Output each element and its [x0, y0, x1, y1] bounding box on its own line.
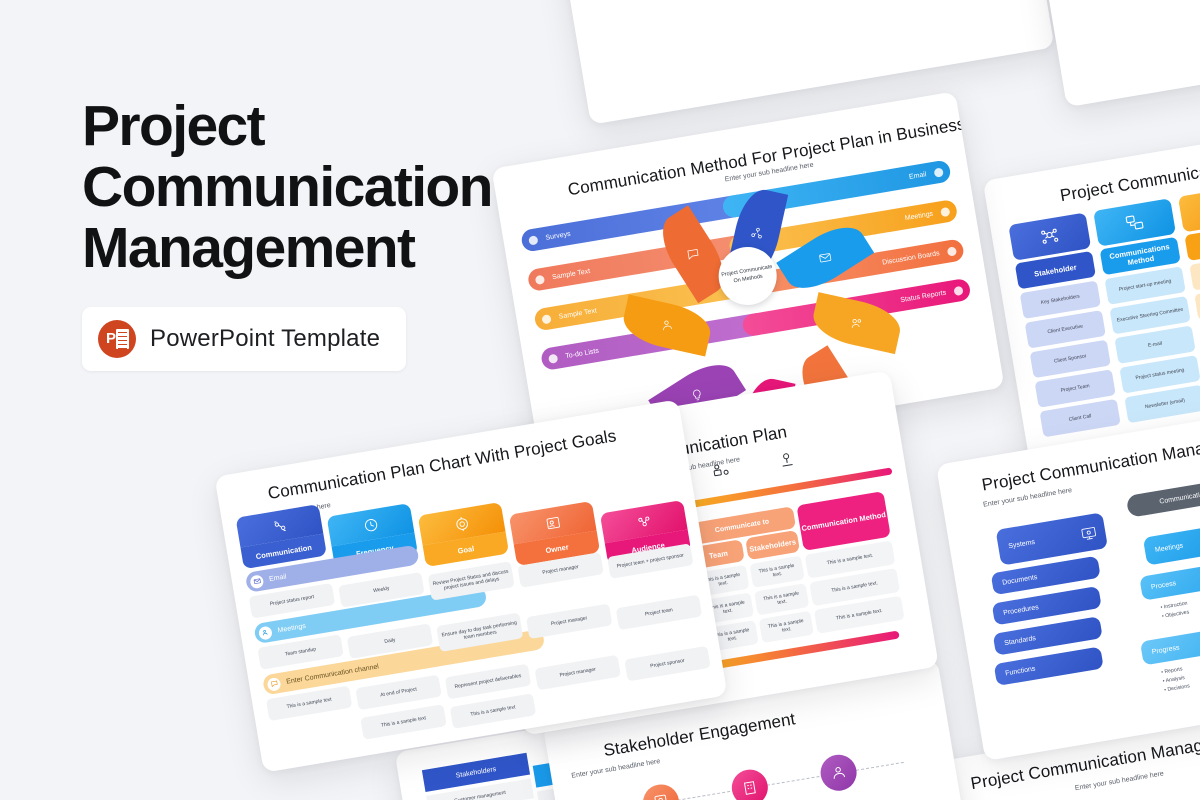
coin-icon: [755, 442, 818, 478]
table-cell: This is a sample text: [360, 704, 446, 740]
goals-column: Goal: [418, 502, 510, 572]
row-label: Meetings: [277, 622, 306, 634]
bullet-dot: [528, 235, 538, 245]
badge-label: PowerPoint Template: [150, 325, 380, 353]
table-cell: Project team: [616, 595, 702, 631]
org-node-process[interactable]: Process: [1139, 560, 1200, 601]
page-title: Project Communication Management: [82, 96, 512, 279]
node-label: Meetings: [1154, 542, 1183, 554]
meetings-icon: [258, 625, 273, 640]
frequency-icon: [1178, 184, 1200, 232]
slide-org-chart[interactable]: Project Communication Management Enter y…: [936, 399, 1200, 761]
table-cell: This is a sample text.: [759, 611, 814, 643]
table-cell: Represent project deliverables: [445, 664, 531, 700]
table-cell: At end of Project: [355, 675, 441, 711]
org-node-meetings[interactable]: Meetings: [1143, 518, 1200, 565]
hero-block: Project Communication Management P Power…: [82, 96, 512, 371]
table-cell: This is a sample text.: [749, 556, 804, 588]
table-cell: Project manager: [526, 604, 612, 640]
node-label: Systems: [1008, 538, 1036, 549]
table-cell: This is a sample text.: [754, 583, 809, 615]
node-label: Documents: [1002, 573, 1038, 586]
systems-icon: [1079, 523, 1099, 543]
method-label: Status Reports: [900, 289, 947, 304]
process-bullets: • Instruction • Objectives: [1160, 599, 1190, 621]
powerpoint-icon: P: [98, 320, 136, 358]
org-node-root[interactable]: Communication Management: [1126, 470, 1200, 517]
timeline-step[interactable]: [755, 442, 818, 478]
method-label: Meetings: [904, 210, 933, 222]
table-cell: Project manager: [535, 655, 621, 691]
page-title: Communication Plan Chart With Project Go…: [266, 426, 617, 504]
collage-stage: Inputs Project Management Plan Enterpris…: [0, 0, 1200, 800]
bullet-dot: [953, 285, 963, 295]
powerpoint-template-badge[interactable]: P PowerPoint Template: [82, 307, 406, 371]
method-label: To-do Lists: [565, 347, 600, 359]
node-label: Procedures: [1003, 604, 1039, 617]
title-line: Communication: [82, 157, 512, 218]
bullet-dot: [535, 274, 545, 284]
building-icon[interactable]: [729, 767, 770, 800]
method-label: Sample Text: [552, 268, 591, 281]
table-cell: This is a sample text: [450, 693, 536, 729]
node-label: Communication Management: [1159, 483, 1200, 505]
bullet-dot: [940, 206, 950, 216]
node-label: Progress: [1151, 644, 1180, 656]
table-cell: Project sponsor: [624, 646, 710, 682]
row-label: Email: [269, 573, 287, 583]
method-label: Surveys: [545, 230, 571, 241]
contact-icon[interactable]: [640, 782, 681, 800]
bullet-dot: [933, 167, 943, 177]
bullet-dot: [541, 314, 551, 324]
method-label: Email: [908, 171, 926, 181]
org-node-progress[interactable]: Progress: [1140, 625, 1200, 666]
channel-icon: [266, 676, 281, 691]
bullet-dot: [548, 353, 558, 363]
bullet-dot: [947, 246, 957, 256]
ppt-letter: P: [106, 331, 116, 346]
row-label: Enter Communication channel: [286, 663, 380, 685]
method-label: Sample Text: [558, 307, 597, 320]
title-line: Management: [82, 218, 512, 279]
email-icon: [249, 574, 264, 589]
ppt-doc-glyph: [116, 329, 129, 349]
page-subtitle: Enter your sub headline here: [571, 758, 661, 780]
progress-bullets: • Reports • Analysis • Decisions: [1161, 665, 1191, 695]
slide-itto-columns[interactable]: Inputs Project Management Plan Enterpris…: [541, 0, 1054, 125]
node-label: Functions: [1005, 665, 1036, 677]
node-label: Standards: [1004, 635, 1037, 647]
slide-stakeholder-table[interactable]: Project Communication Enter your sub hea…: [983, 123, 1200, 477]
node-label: Process: [1151, 580, 1177, 591]
users-icon: [690, 453, 753, 489]
title-line: Project: [82, 96, 512, 157]
timeline-step[interactable]: [690, 453, 753, 489]
team-icon[interactable]: [818, 752, 859, 793]
method-label: Discussion Boards: [882, 250, 940, 266]
page-title: Project Communication Management: [980, 429, 1200, 495]
